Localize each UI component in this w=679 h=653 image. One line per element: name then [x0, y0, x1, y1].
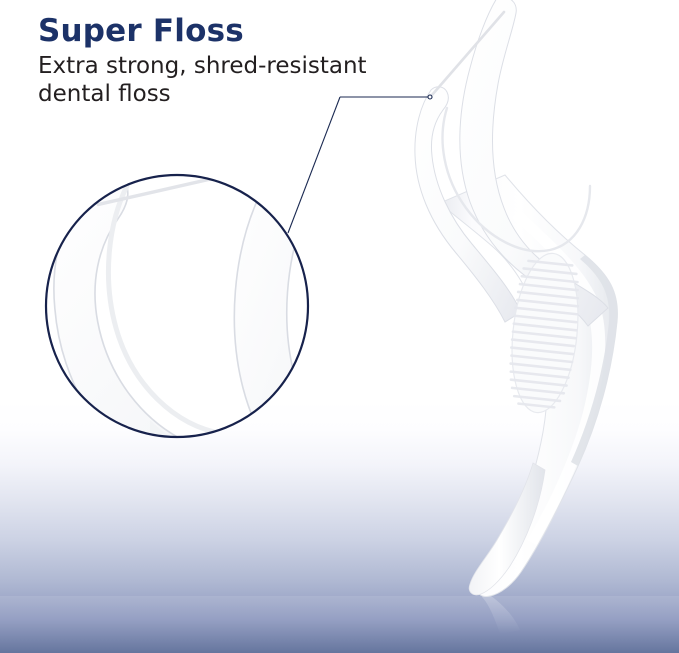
floor-reflection: [482, 593, 520, 634]
magnified-detail-circle: [46, 158, 374, 522]
text-block: Super Floss Extra strong, shred-resistan…: [38, 14, 438, 108]
page-subtitle: Extra strong, shred-resistant dental flo…: [38, 52, 438, 108]
product-feature-image: Super Floss Extra strong, shred-resistan…: [0, 0, 679, 653]
callout-diagonal-segment: [288, 97, 340, 233]
callout-leader-line: [288, 95, 432, 233]
floss-pick-graphic: [415, 0, 618, 634]
subtitle-line-2: dental floss: [38, 81, 171, 107]
page-title: Super Floss: [38, 14, 438, 48]
subtitle-line-1: Extra strong, shred-resistant: [38, 53, 367, 79]
